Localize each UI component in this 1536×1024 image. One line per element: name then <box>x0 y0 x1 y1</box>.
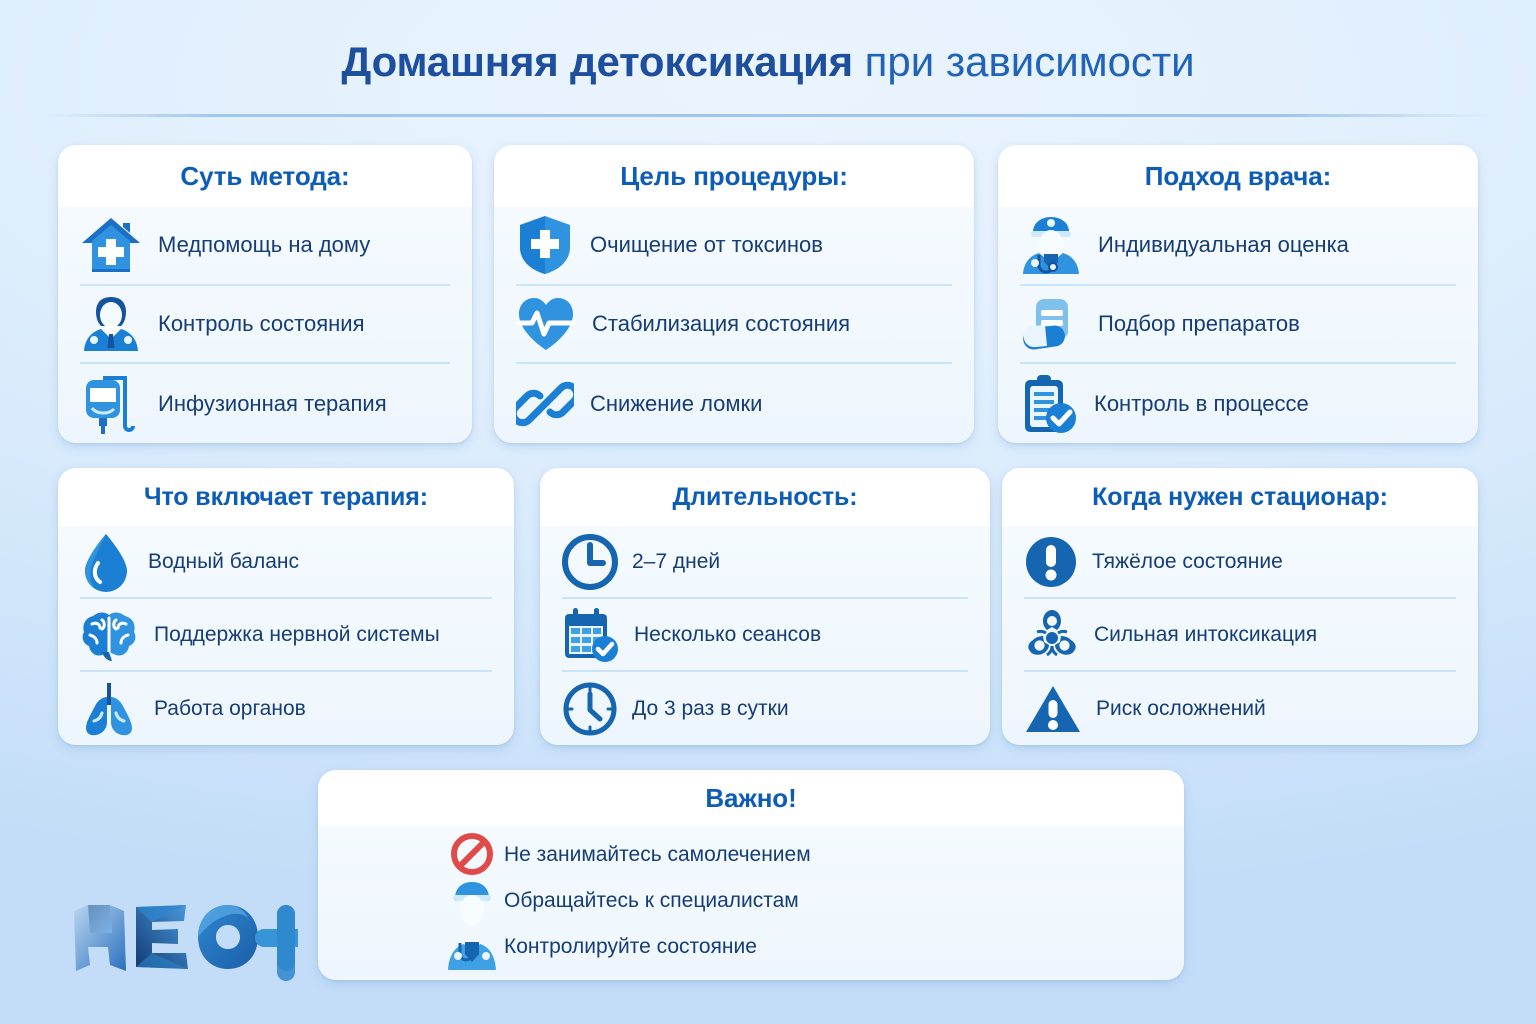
card-body: Очищение от токсинов Стабилизация состоя… <box>494 207 974 443</box>
list-item: Тяжёлое состояние <box>1024 526 1456 599</box>
clock-icon <box>562 534 618 590</box>
brand-logo <box>68 895 298 981</box>
list-item: Не занимайтесь самолечением <box>318 832 1184 878</box>
card-vazhno: Важно! Не занимайтесь самолечением Обращ… <box>318 770 1184 980</box>
list-item-label: Поддержка нервной системы <box>154 623 440 647</box>
list-item-label: Риск осложнений <box>1096 697 1266 721</box>
list-item: Риск осложнений <box>1024 672 1456 745</box>
list-item: Контроль в процессе <box>1020 364 1456 443</box>
list-item: Контроль состояния <box>80 286 450 365</box>
list-item-label: Стабилизация состояния <box>592 311 850 337</box>
list-item-label: Медпомощь на дому <box>158 232 370 258</box>
page-title-bold: Домашняя детоксикация <box>341 38 853 85</box>
brain-icon <box>80 608 138 662</box>
card-chto-vklyuchaet-terapiya: Что включает терапия: Водный баланс Подд… <box>58 468 514 745</box>
list-item: 2–7 дней <box>562 526 968 599</box>
prohibition-sign-icon <box>450 832 494 881</box>
iv-drip-icon <box>80 372 142 436</box>
page-title: Домашняя детоксикация при зависимости <box>0 38 1536 85</box>
list-item: Стабилизация состояния <box>516 286 952 365</box>
list-item: Несколько сеансов <box>562 599 968 672</box>
list-item: До 3 раз в сутки <box>562 672 968 745</box>
card-sut-metoda: Суть метода: Медпомощь на дому Контроль … <box>58 145 472 443</box>
page-title-regular: при зависимости <box>853 38 1195 85</box>
clipboard-check-icon <box>1020 373 1078 435</box>
calendar-check-icon <box>562 606 620 664</box>
list-item-label: До 3 раз в сутки <box>632 697 789 721</box>
list-item-label: Водный баланс <box>148 550 299 574</box>
card-heading: Когда нужен стационар: <box>1002 468 1478 526</box>
list-item: Снижение ломки <box>516 364 952 443</box>
list-item: Сильная интоксикация <box>1024 599 1456 672</box>
water-drop-icon <box>80 532 132 592</box>
list-item-label: Обращайтесь к специалистам <box>504 889 799 913</box>
list-item: Подбор препаратов <box>1020 286 1456 365</box>
card-heading: Что включает терапия: <box>58 468 514 526</box>
card-body: Индивидуальная оценка Подбор препаратов … <box>998 207 1478 443</box>
list-item: Водный баланс <box>80 526 492 599</box>
doctor-person-icon <box>80 293 142 355</box>
list-item-label: 2–7 дней <box>632 550 720 574</box>
list-item-label: Контроль состояния <box>158 311 365 337</box>
lungs-icon <box>80 681 138 737</box>
card-body: 2–7 дней Несколько сеансов До 3 раз в су… <box>540 526 990 745</box>
list-item-label: Контролируйте состояние <box>504 935 757 959</box>
title-divider <box>40 114 1496 117</box>
list-item-label: Работа органов <box>154 697 306 721</box>
list-item-label: Очищение от токсинов <box>590 232 823 258</box>
list-item: Работа органов <box>80 672 492 745</box>
list-item: Индивидуальная оценка <box>1020 207 1456 286</box>
card-podhod-vracha: Подход врача: Индивидуальная оценка Подб… <box>998 145 1478 443</box>
list-item-label: Снижение ломки <box>590 391 762 417</box>
card-body: Водный баланс Поддержка нервной системы … <box>58 526 514 745</box>
list-item-label: Инфузионная терапия <box>158 391 387 417</box>
card-heading: Подход врача: <box>998 145 1478 207</box>
clock-ticks-icon <box>562 681 618 737</box>
exclamation-circle-icon <box>1024 535 1078 589</box>
list-item: Поддержка нервной системы <box>80 599 492 672</box>
warning-triangle-icon <box>1024 683 1082 735</box>
doctor-figure-icon <box>446 876 498 977</box>
card-kogda-nuzhen-stacionar: Когда нужен стационар: Тяжёлое состояние… <box>1002 468 1478 745</box>
card-body: Медпомощь на дому Контроль состояния Инф… <box>58 207 472 443</box>
list-item-label: Подбор препаратов <box>1098 311 1300 337</box>
card-heading: Длительность: <box>540 468 990 526</box>
list-item: Инфузионная терапия <box>80 364 450 443</box>
list-item-label: Не занимайтесь самолечением <box>504 843 811 867</box>
card-body: Тяжёлое состояние Сильная интоксикация Р… <box>1002 526 1478 745</box>
shield-cross-icon <box>516 214 574 276</box>
card-dlitelnost: Длительность: 2–7 дней Несколько сеансов… <box>540 468 990 745</box>
card-body: Не занимайтесь самолечением Обращайтесь … <box>318 826 1184 980</box>
chain-link-icon <box>516 375 574 433</box>
doctor-stethoscope-icon <box>1020 214 1082 276</box>
list-item-label: Тяжёлое состояние <box>1092 550 1283 574</box>
list-item: Медпомощь на дому <box>80 207 450 286</box>
list-item-label: Контроль в процессе <box>1094 391 1309 417</box>
pills-icon <box>1020 295 1082 353</box>
list-item: Очищение от токсинов <box>516 207 952 286</box>
card-heading: Важно! <box>318 770 1184 826</box>
biohazard-icon <box>1024 607 1080 663</box>
card-cel-procedury: Цель процедуры: Очищение от токсинов Ста… <box>494 145 974 443</box>
heart-pulse-icon <box>516 295 576 353</box>
house-medical-icon <box>80 216 142 274</box>
card-heading: Суть метода: <box>58 145 472 207</box>
list-item-label: Индивидуальная оценка <box>1098 232 1349 258</box>
list-item-label: Сильная интоксикация <box>1094 623 1317 647</box>
list-item-label: Несколько сеансов <box>634 623 821 647</box>
card-heading: Цель процедуры: <box>494 145 974 207</box>
